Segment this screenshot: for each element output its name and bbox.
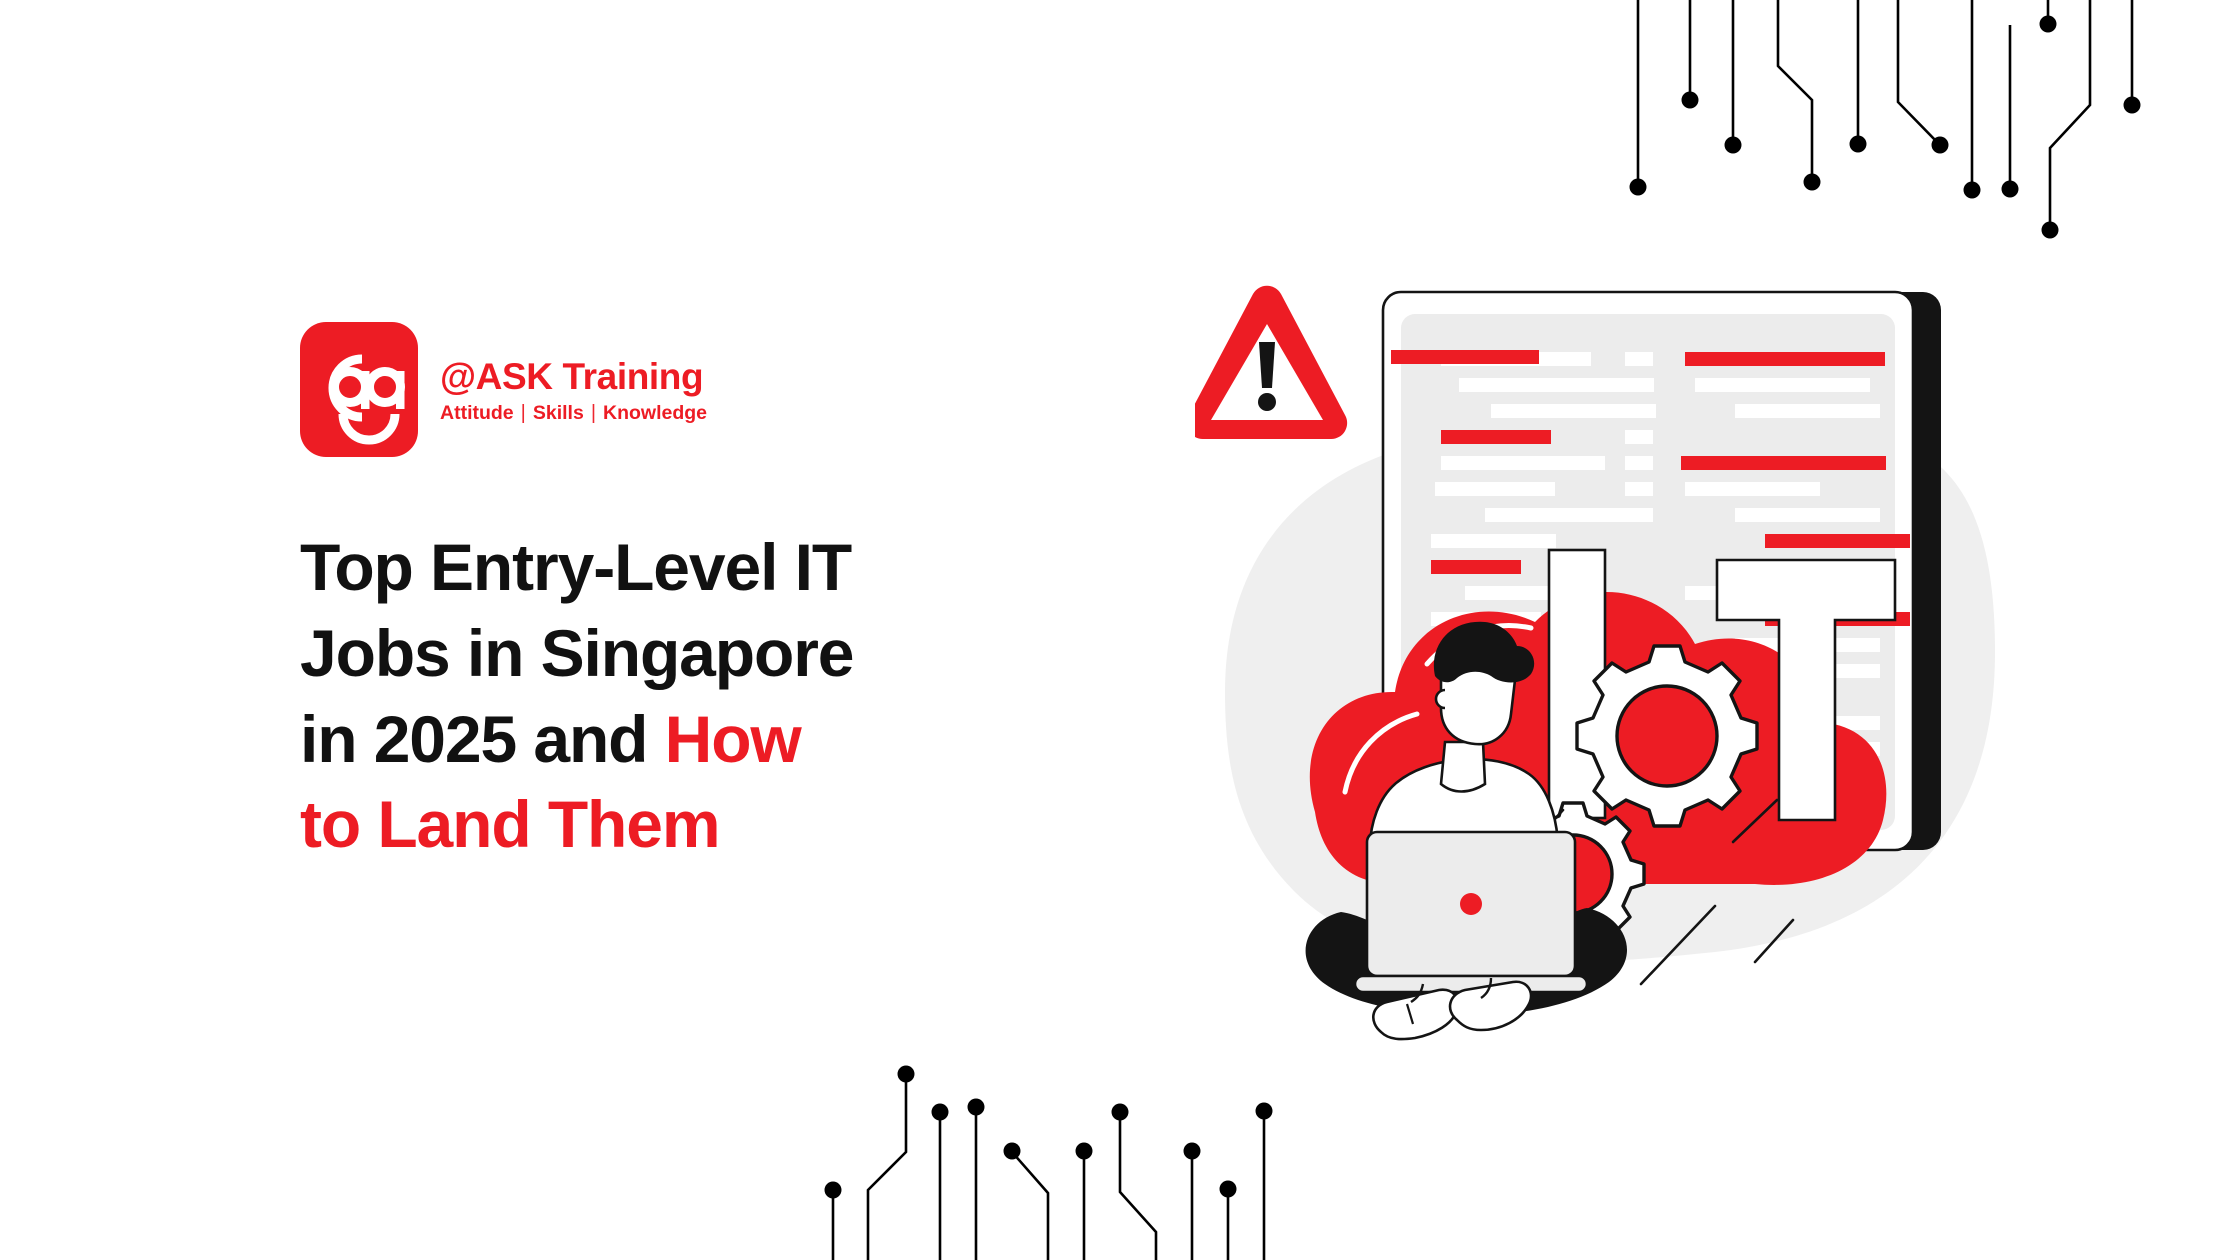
- tagline-separator-2: |: [584, 402, 603, 425]
- circuit-trace-pattern-bottom-center: [800, 1050, 1320, 1260]
- page-title: Top Entry-Level IT Jobs in Singapore in …: [300, 525, 1040, 868]
- brand-wordmark-block: @ASK Training Attitude | Skills | Knowle…: [440, 354, 707, 425]
- laptop-logo-dot: [1460, 893, 1482, 915]
- brand-tagline: Attitude | Skills | Knowledge: [440, 402, 707, 425]
- ask-training-aa-smiley-logo-icon: [300, 322, 418, 457]
- headline-line-1: Top Entry-Level IT: [300, 530, 851, 604]
- gear-large-icon: [1577, 646, 1757, 826]
- brand-name: @ASK Training: [440, 358, 707, 397]
- circuit-trace-pattern-top-right: [1620, 0, 2240, 250]
- tagline-separator-1: |: [514, 402, 533, 425]
- brand-logo-lockup[interactable]: @ASK Training Attitude | Skills | Knowle…: [300, 322, 1080, 457]
- it-developer-illustration: [1195, 272, 2015, 1062]
- headline-line-2: Jobs in Singapore: [300, 616, 853, 690]
- headline-line-4-accent: to Land Them: [300, 787, 719, 861]
- banner: @ASK Training Attitude | Skills | Knowle…: [0, 0, 2240, 1260]
- warning-triangle-icon: [1195, 286, 1347, 446]
- text-column: @ASK Training Attitude | Skills | Knowle…: [300, 322, 1080, 912]
- headline-line-3-black: in 2025 and: [300, 702, 665, 776]
- tagline-attitude: Attitude: [440, 402, 514, 425]
- tagline-skills: Skills: [533, 402, 584, 425]
- tagline-knowledge: Knowledge: [603, 402, 707, 425]
- headline-line-3-accent: How: [665, 702, 801, 776]
